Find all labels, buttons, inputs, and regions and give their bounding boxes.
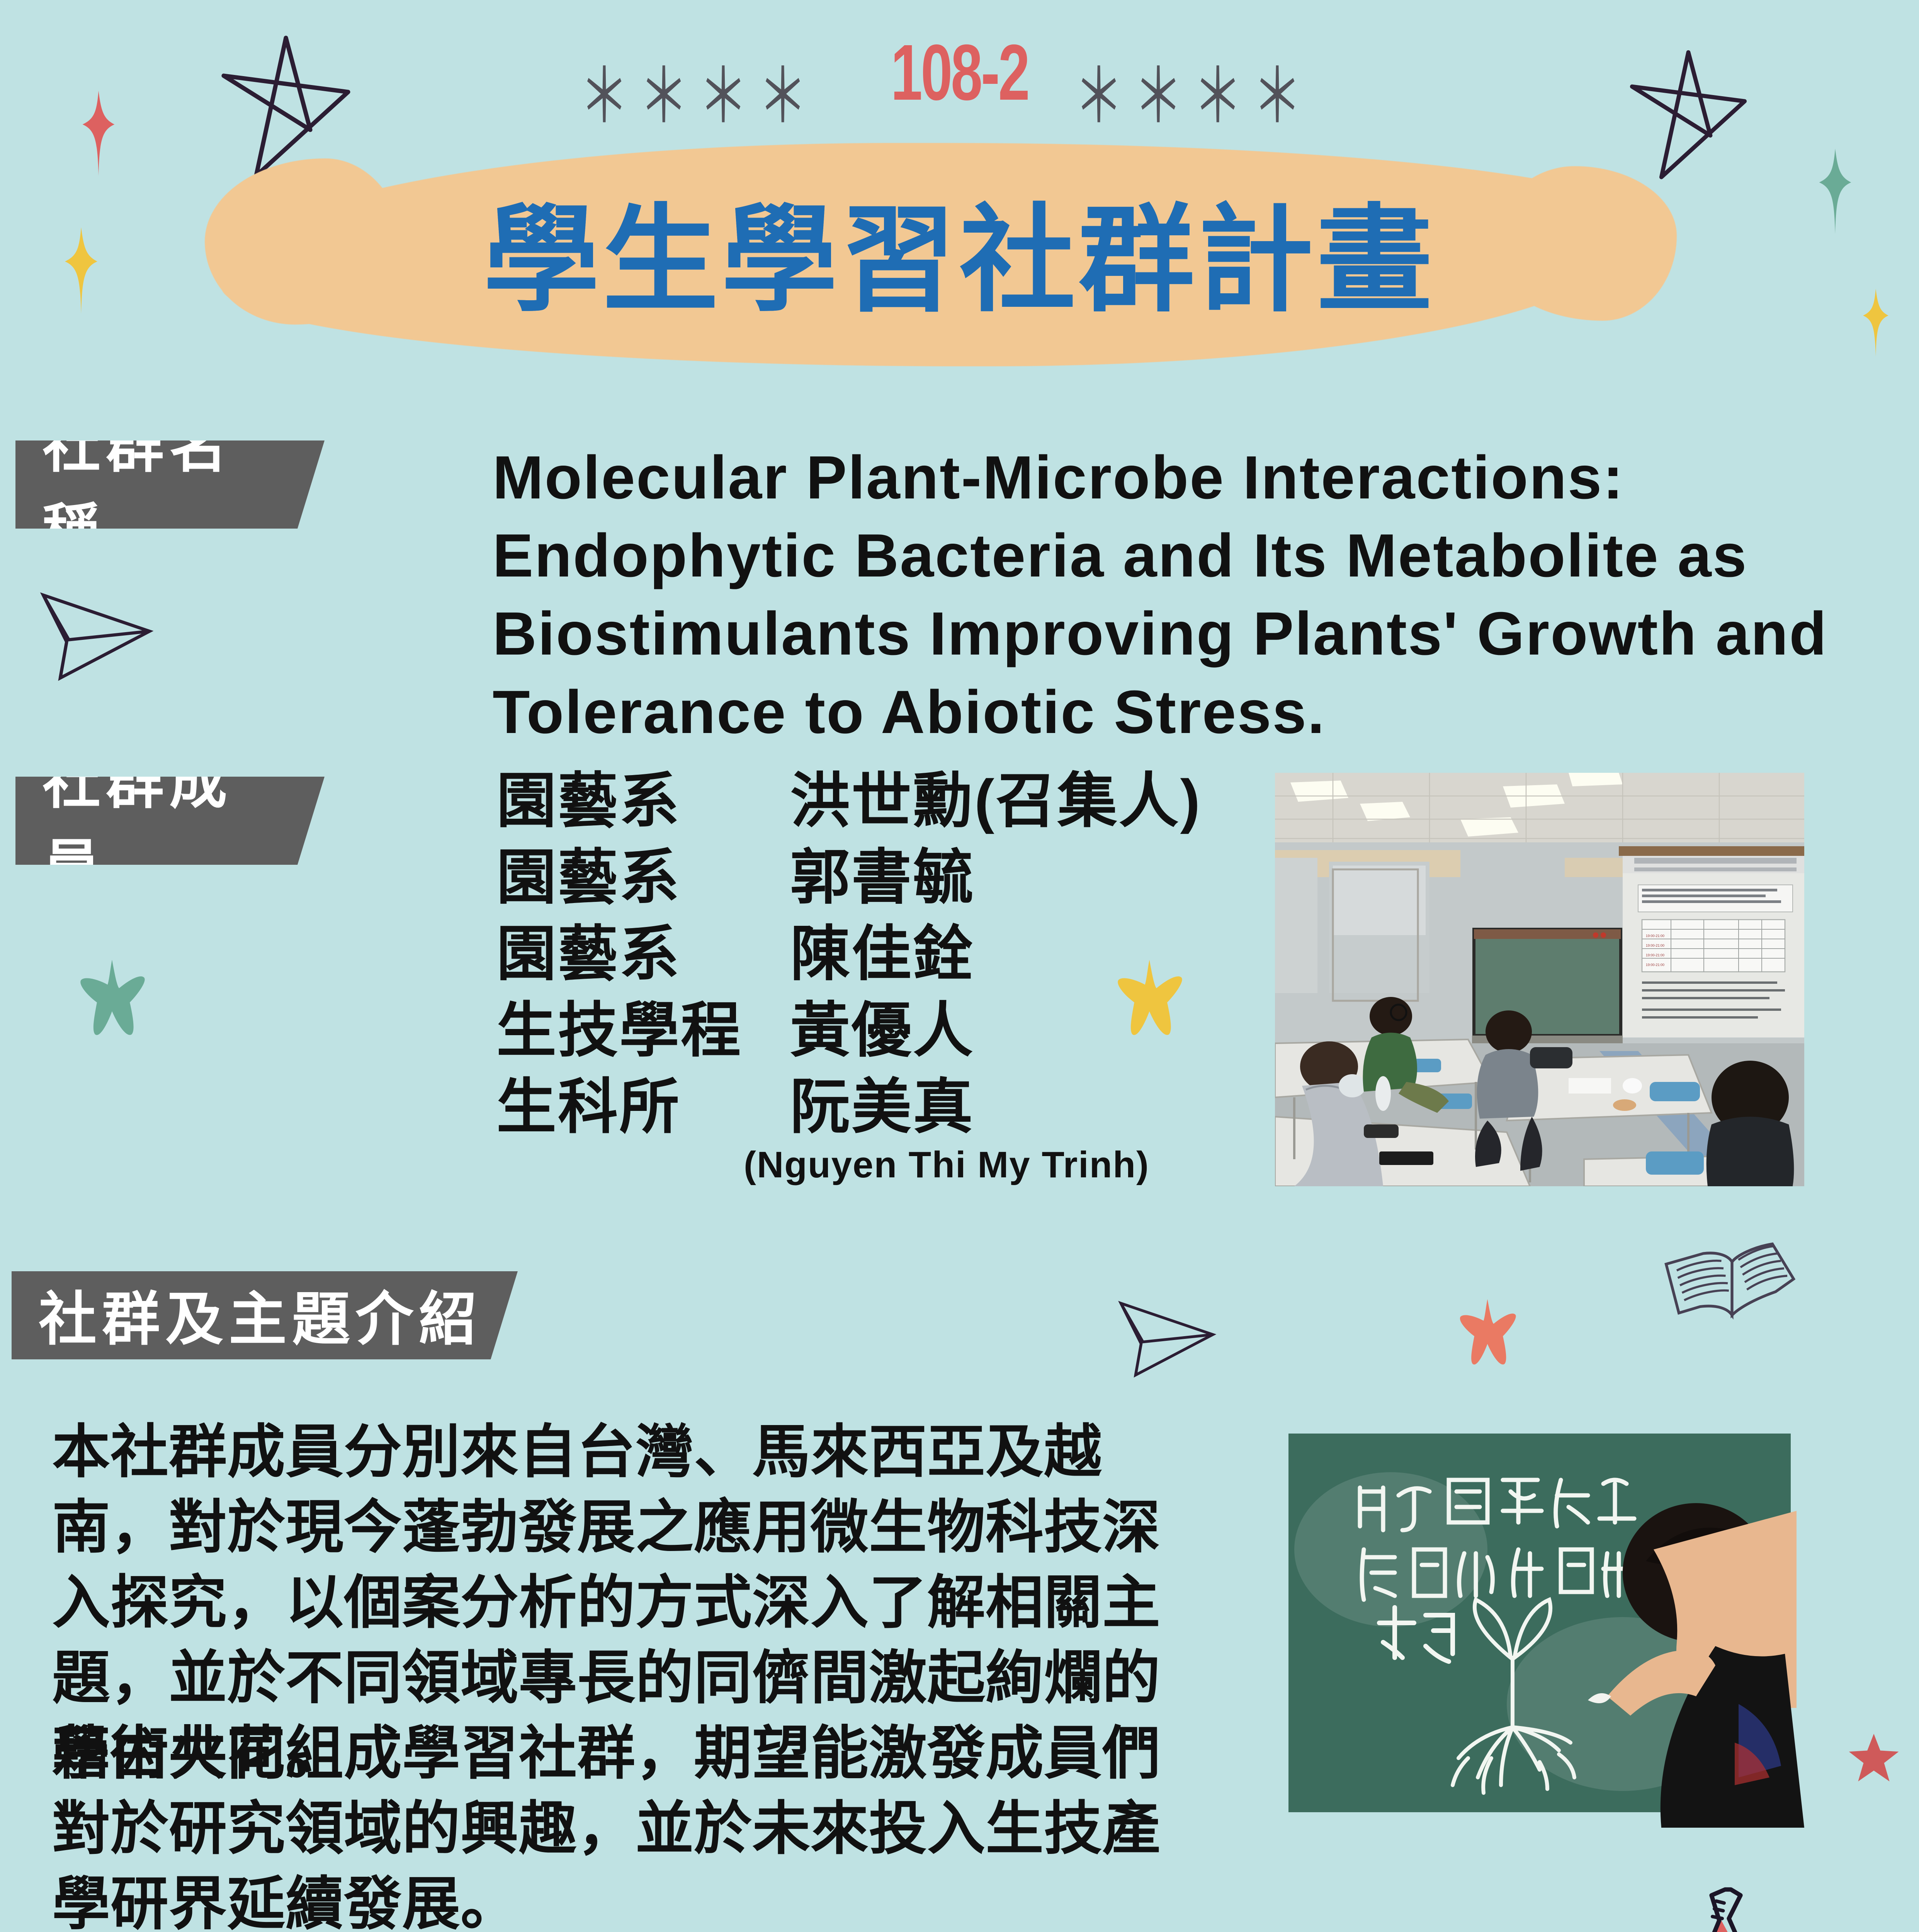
member-department: 園藝系	[496, 765, 790, 837]
photo-classroom-discussion: 19:00-21:00 19:00-21:00 19:00-21:00 19:0…	[1275, 773, 1804, 1186]
star-green-members-icon	[68, 954, 156, 1043]
paper-plane-intro-icon	[1113, 1287, 1225, 1383]
list-item: 園藝系 郭書毓	[496, 842, 1202, 913]
page-title: 學生學習社群計畫	[0, 166, 1919, 334]
community-name-text: Molecular Plant-Microbe Interactions: En…	[493, 439, 1883, 751]
star-salmon-intro-icon	[1449, 1294, 1526, 1372]
member-name: 黃優人	[790, 995, 974, 1066]
semester-badge: 108-2	[269, 27, 1650, 118]
list-item: 生科所 阮美真	[496, 1071, 1202, 1143]
section-label-community-name: 社群名稱	[15, 440, 325, 529]
poster-header: ＊＊＊＊ 108-2 ＊＊＊＊ 學生學習社群計畫	[0, 0, 1919, 410]
sparkle-row-right: ＊＊＊＊	[1074, 36, 1312, 144]
member-department: 生技學程	[496, 995, 790, 1066]
svg-text:19:00-21:00: 19:00-21:00	[1646, 934, 1664, 938]
svg-text:19:00-21:00: 19:00-21:00	[1646, 953, 1664, 957]
list-item: 園藝系 陳佳銓	[496, 918, 1202, 990]
member-name: 阮美真	[790, 1071, 974, 1143]
member-department: 園藝系	[496, 918, 790, 990]
svg-text:19:00-21:00: 19:00-21:00	[1646, 963, 1664, 967]
paper-plane-upper-left-icon	[35, 576, 162, 688]
list-item: 生技學程 黃優人	[496, 995, 1202, 1066]
member-department: 園藝系	[496, 842, 790, 913]
section-label-members: 社群成員	[15, 777, 325, 865]
member-name: 郭書毓	[790, 842, 974, 913]
section-label-intro: 社群及主題介紹	[12, 1271, 518, 1359]
photo-blackboard-sprout	[1275, 1414, 1804, 1828]
star-red-results-icon	[1847, 1731, 1901, 1785]
member-name: 洪世勳(召集人)	[790, 765, 1202, 837]
open-book-icon	[1656, 1238, 1804, 1341]
member-department: 生科所	[496, 1071, 790, 1143]
flask-icon	[1669, 1886, 1766, 1932]
list-item: 園藝系 洪世勳(召集人)	[496, 765, 1202, 837]
member-name: 陳佳銓	[790, 918, 974, 990]
intro-paragraph-2: 藉由共同組成學習社群，期望能激發成員們對於研究領域的興趣，並於未來投入生技產學研…	[52, 1716, 1207, 1932]
member-name-alias: (Nguyen Thi My Trinh)	[744, 1144, 1202, 1186]
members-list: 園藝系 洪世勳(召集人) 園藝系 郭書毓 園藝系 陳佳銓 生技學程 黃優人 生科…	[496, 765, 1202, 1186]
svg-text:19:00-21:00: 19:00-21:00	[1646, 944, 1664, 947]
